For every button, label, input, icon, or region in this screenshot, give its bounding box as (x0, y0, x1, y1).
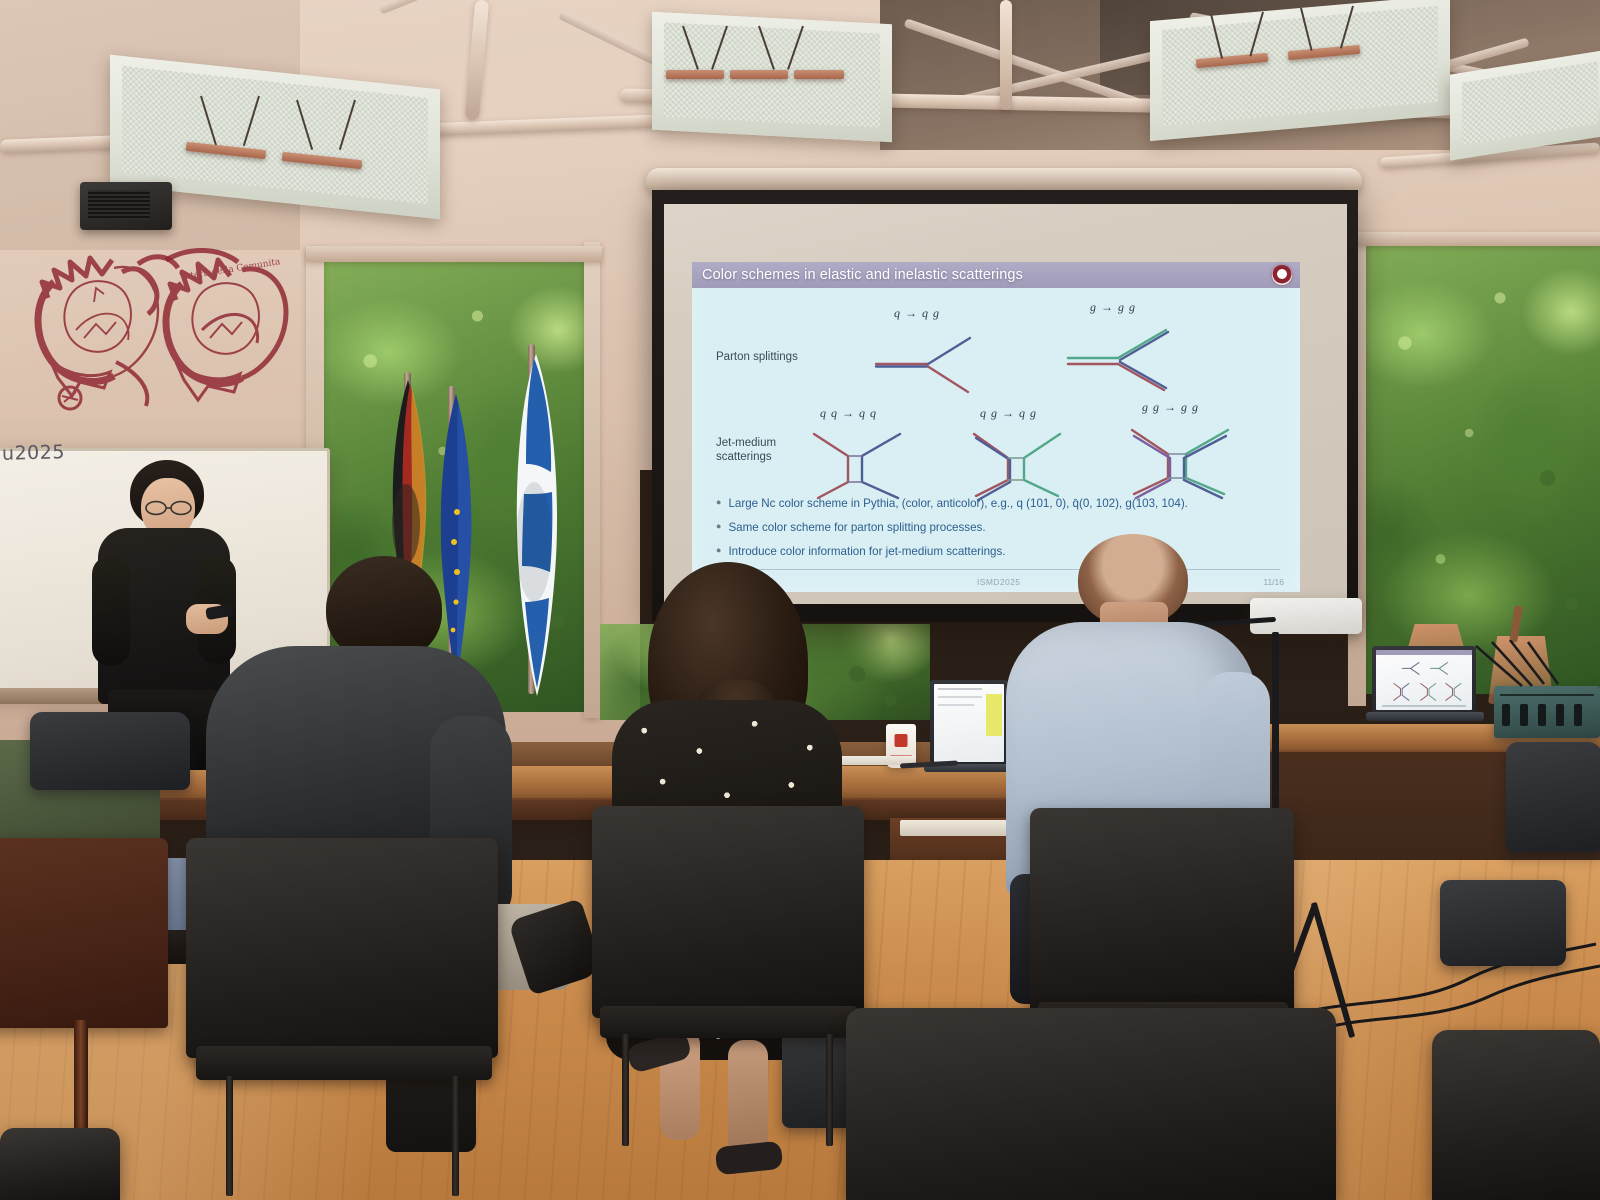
paper-stack (900, 820, 1020, 836)
lecture-hall-scene: Vetera della Comunita (0, 0, 1600, 1200)
slide-footer-divider (712, 569, 1280, 570)
pendant-light-bar (666, 70, 724, 79)
european-union-flag (432, 392, 480, 692)
bullet-text: Same color scheme for parton splitting p… (728, 520, 985, 535)
presenter-laptop-display (1376, 650, 1472, 710)
chair-seat (600, 1006, 858, 1038)
chair-front-left[interactable] (186, 838, 498, 1058)
chair-leg (826, 1034, 833, 1146)
audience-laptop-screen[interactable] (930, 680, 1008, 766)
process-label-qq-to-qq: q q → q q (820, 406, 877, 421)
projection-screen-surface: Color schemes in elastic and inelastic s… (664, 204, 1347, 604)
heraldic-crest-mural: Vetera della Comunita (18, 238, 290, 426)
process-label-q-to-qg: q → q g (894, 306, 940, 321)
feynman-diagram-q-to-qg (870, 328, 1000, 398)
chair-foreground-right[interactable] (1432, 1030, 1600, 1200)
chair-leg (226, 1076, 233, 1196)
bullet-marker: ● (716, 496, 721, 509)
institution-seal-icon (1272, 265, 1292, 285)
window-frame (584, 242, 600, 718)
window-frame (306, 246, 602, 262)
row-label-jet-medium-scatterings: Jet-medium scatterings (716, 436, 776, 465)
window-foliage-right (1362, 244, 1600, 694)
bullet-item: ● Introduce color information for jet-me… (716, 544, 1286, 559)
feynman-diagram-qq-to-qq (804, 426, 914, 502)
whiteboard-handwriting: u2025 (2, 441, 65, 465)
bag-floor-right (1440, 880, 1566, 966)
process-label-gg-to-gg: g g → g g (1142, 400, 1199, 415)
row-label-parton-splittings: Parton splittings (716, 350, 798, 364)
laptop-display (934, 684, 1004, 762)
backpack-on-table (30, 712, 190, 790)
presenter-arm-left (92, 556, 130, 666)
process-label-g-to-gg: g → g g (1090, 300, 1136, 315)
window-frame (1348, 232, 1600, 246)
presenter-laptop-screen[interactable] (1372, 646, 1476, 714)
bullet-item: ● Same color scheme for parton splitting… (716, 520, 1286, 535)
bullet-text: Large Nᴄ color scheme in Pythia, (color,… (728, 496, 1187, 511)
slide-title: Color schemes in elastic and inelastic s… (692, 267, 1023, 283)
chair-seat (196, 1046, 492, 1080)
presentation-slide: Color schemes in elastic and inelastic s… (692, 262, 1300, 592)
process-label-qg-to-qg: q g → q g (980, 406, 1037, 421)
pendant-light-bar (794, 70, 844, 79)
projector (1250, 598, 1362, 634)
slide-body: Parton splittings q → q g g → g g (692, 288, 1300, 592)
bullet-marker: ● (716, 520, 721, 533)
wall-speaker (80, 182, 172, 230)
cable-bundle (1470, 640, 1600, 710)
cup-logo (895, 734, 908, 747)
chair-center-right[interactable] (1030, 808, 1294, 1014)
feynman-diagram-g-to-gg (1062, 324, 1192, 398)
chair-leg (74, 1020, 88, 1130)
slide-title-bar: Color schemes in elastic and inelastic s… (692, 262, 1300, 288)
bag-right (1506, 742, 1600, 852)
chair-leg (622, 1034, 629, 1146)
panel-mesh (1462, 61, 1598, 145)
chair-leg (452, 1076, 459, 1196)
slide-footer-conference: ISMD2025 (977, 577, 1020, 587)
feynman-diagram-qg-to-qg (964, 426, 1074, 502)
chair-foreground-center[interactable] (846, 1008, 1336, 1200)
presenter-laptop-base[interactable] (1366, 712, 1484, 721)
greek-flag (504, 352, 568, 700)
eyeglasses-icon (142, 500, 196, 516)
chair-center[interactable] (592, 806, 864, 1018)
projection-screen: Color schemes in elastic and inelastic s… (652, 190, 1358, 622)
bullet-item: ● Large Nᴄ color scheme in Pythia, (colo… (716, 496, 1286, 511)
feynman-diagram-gg-to-gg (1124, 422, 1240, 502)
slide-bullet-list: ● Large Nᴄ color scheme in Pythia, (colo… (716, 496, 1286, 568)
bullet-text: Introduce color information for jet-medi… (728, 544, 1005, 559)
chair-foreground-left[interactable] (0, 1128, 120, 1200)
bullet-marker: ● (716, 544, 721, 557)
pendant-light-bar (730, 70, 788, 79)
ceiling-pipe (1000, 0, 1012, 110)
slide-page-number: 11/16 (1263, 577, 1284, 587)
audience-leg (728, 1040, 768, 1158)
chair-wooden[interactable] (0, 838, 168, 1028)
